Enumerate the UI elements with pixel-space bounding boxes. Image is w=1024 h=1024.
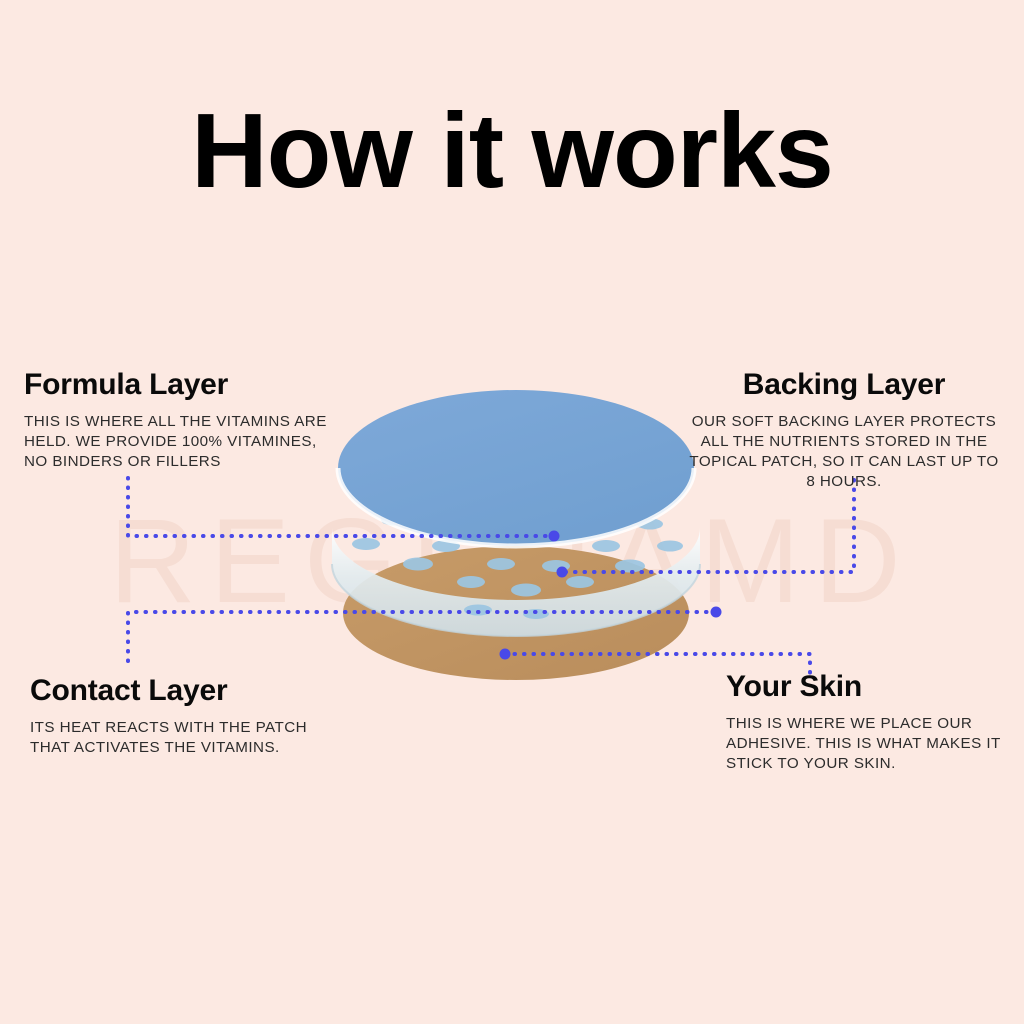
callout-contact-heading: Contact Layer [30,674,350,708]
callout-skin-heading: Your Skin [726,670,1016,704]
callout-formula-body: THIS IS WHERE ALL THE VITAMINS ARE HELD.… [24,412,334,472]
topical-patch-illustration [318,368,714,698]
callout-backing-body: OUR SOFT BACKING LAYER PROTECTS ALL THE … [688,412,1000,492]
callout-formula-heading: Formula Layer [24,368,334,402]
callout-backing-layer: Backing Layer OUR SOFT BACKING LAYER PRO… [688,368,1000,492]
callout-contact-body: ITS HEAT REACTS WITH THE PATCH THAT ACTI… [30,718,350,758]
callout-skin-body: THIS IS WHERE WE PLACE OUR ADHESIVE. THI… [726,714,1016,774]
infographic-canvas: REGENAMD How it works [0,0,1024,1024]
callout-backing-heading: Backing Layer [688,368,1000,402]
callout-contact-layer: Contact Layer ITS HEAT REACTS WITH THE P… [30,674,350,758]
callout-your-skin: Your Skin THIS IS WHERE WE PLACE OUR ADH… [726,670,1016,774]
page-title: How it works [0,95,1024,207]
callout-formula-layer: Formula Layer THIS IS WHERE ALL THE VITA… [24,368,334,472]
